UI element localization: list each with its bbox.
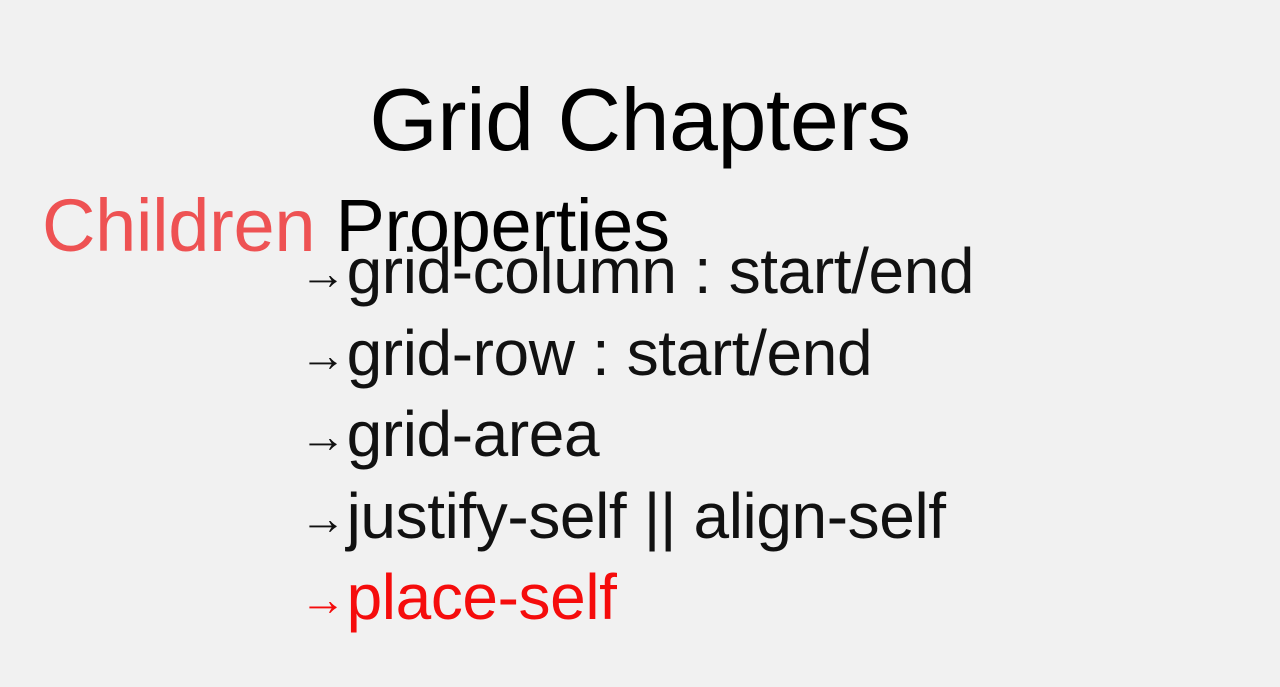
list-item: → grid-row : start/end <box>300 313 974 395</box>
subtitle-accent-word: Children <box>42 184 315 267</box>
property-label: grid-row : start/end <box>347 313 873 395</box>
list-item-highlighted: → place-self <box>300 557 974 639</box>
arrow-right-icon: → <box>300 332 346 378</box>
arrow-right-icon: → <box>300 495 346 541</box>
list-item: → grid-column : start/end <box>300 231 974 313</box>
slide-canvas: Grid Chapters Children Properties → grid… <box>0 0 1280 687</box>
property-label: grid-area <box>347 394 600 476</box>
arrow-right-icon: → <box>300 576 346 622</box>
arrow-right-icon: → <box>300 250 346 296</box>
property-label: justify-self || align-self <box>347 476 946 558</box>
list-item: → justify-self || align-self <box>300 476 974 558</box>
page-title: Grid Chapters <box>0 71 1280 170</box>
property-label: grid-column : start/end <box>347 231 975 313</box>
property-list: → grid-column : start/end → grid-row : s… <box>300 231 974 639</box>
property-label: place-self <box>347 557 617 639</box>
list-item: → grid-area <box>300 394 974 476</box>
arrow-right-icon: → <box>300 413 346 459</box>
